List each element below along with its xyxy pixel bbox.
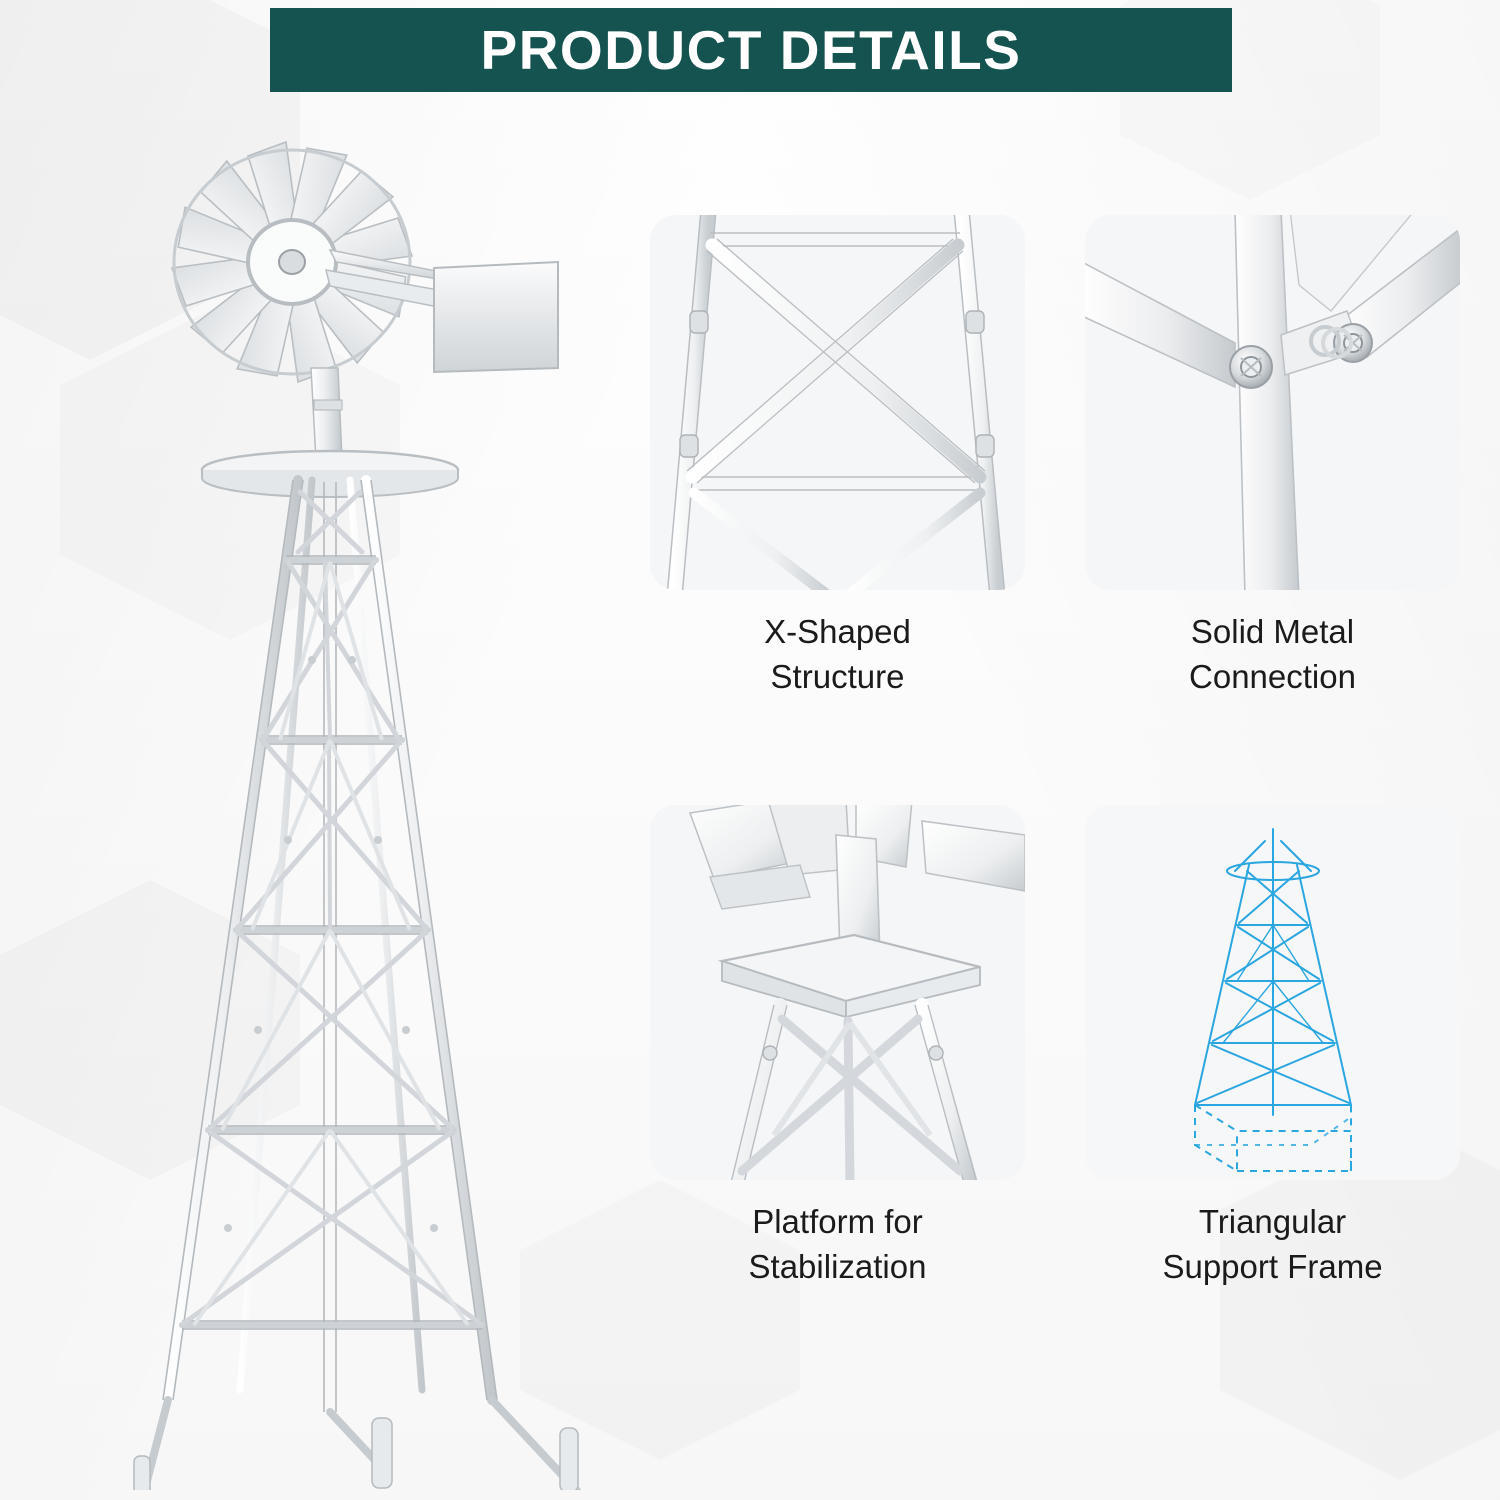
caption-line-1: X-Shaped bbox=[764, 613, 911, 650]
ground-stakes bbox=[142, 1400, 578, 1490]
windmill-head bbox=[311, 368, 342, 460]
feature-cell-triangular-support-frame: Triangular Support Frame bbox=[1085, 805, 1460, 1305]
feature-caption-x-shaped-structure: X-Shaped Structure bbox=[650, 610, 1025, 699]
feature-cell-solid-metal-connection: Solid Metal Connection bbox=[1085, 215, 1460, 715]
product-details-page: PRODUCT DETAILS bbox=[0, 0, 1500, 1500]
feature-caption-triangular-support-frame: Triangular Support Frame bbox=[1085, 1200, 1460, 1289]
platform-closeup bbox=[650, 805, 1025, 1180]
tower-legs bbox=[168, 480, 492, 1412]
feature-caption-platform-for-stabilization: Platform for Stabilization bbox=[650, 1200, 1025, 1289]
hero-product-image bbox=[30, 100, 630, 1490]
caption-line-2: Structure bbox=[650, 655, 1025, 700]
caption-line-2: Connection bbox=[1085, 655, 1460, 700]
caption-line-1: Triangular bbox=[1199, 1203, 1346, 1240]
header-banner: PRODUCT DETAILS bbox=[270, 8, 1232, 92]
caption-line-1: Solid Metal bbox=[1191, 613, 1354, 650]
feature-caption-solid-metal-connection: Solid Metal Connection bbox=[1085, 610, 1460, 699]
caption-line-2: Support Frame bbox=[1085, 1245, 1460, 1290]
caption-line-2: Stabilization bbox=[650, 1245, 1025, 1290]
x-brace-tower-closeup bbox=[650, 215, 1025, 590]
bolt-icon bbox=[1230, 346, 1272, 388]
bolted-joint-closeup bbox=[1085, 215, 1460, 590]
feature-cell-platform-for-stabilization: Platform for Stabilization bbox=[650, 805, 1025, 1305]
page-title: PRODUCT DETAILS bbox=[481, 18, 1022, 82]
feature-grid: X-Shaped Structure bbox=[650, 215, 1470, 1500]
blue-wireframe-tower-diagram bbox=[1085, 805, 1460, 1180]
caption-line-1: Platform for bbox=[752, 1203, 923, 1240]
feature-cell-x-shaped-structure: X-Shaped Structure bbox=[650, 215, 1025, 715]
